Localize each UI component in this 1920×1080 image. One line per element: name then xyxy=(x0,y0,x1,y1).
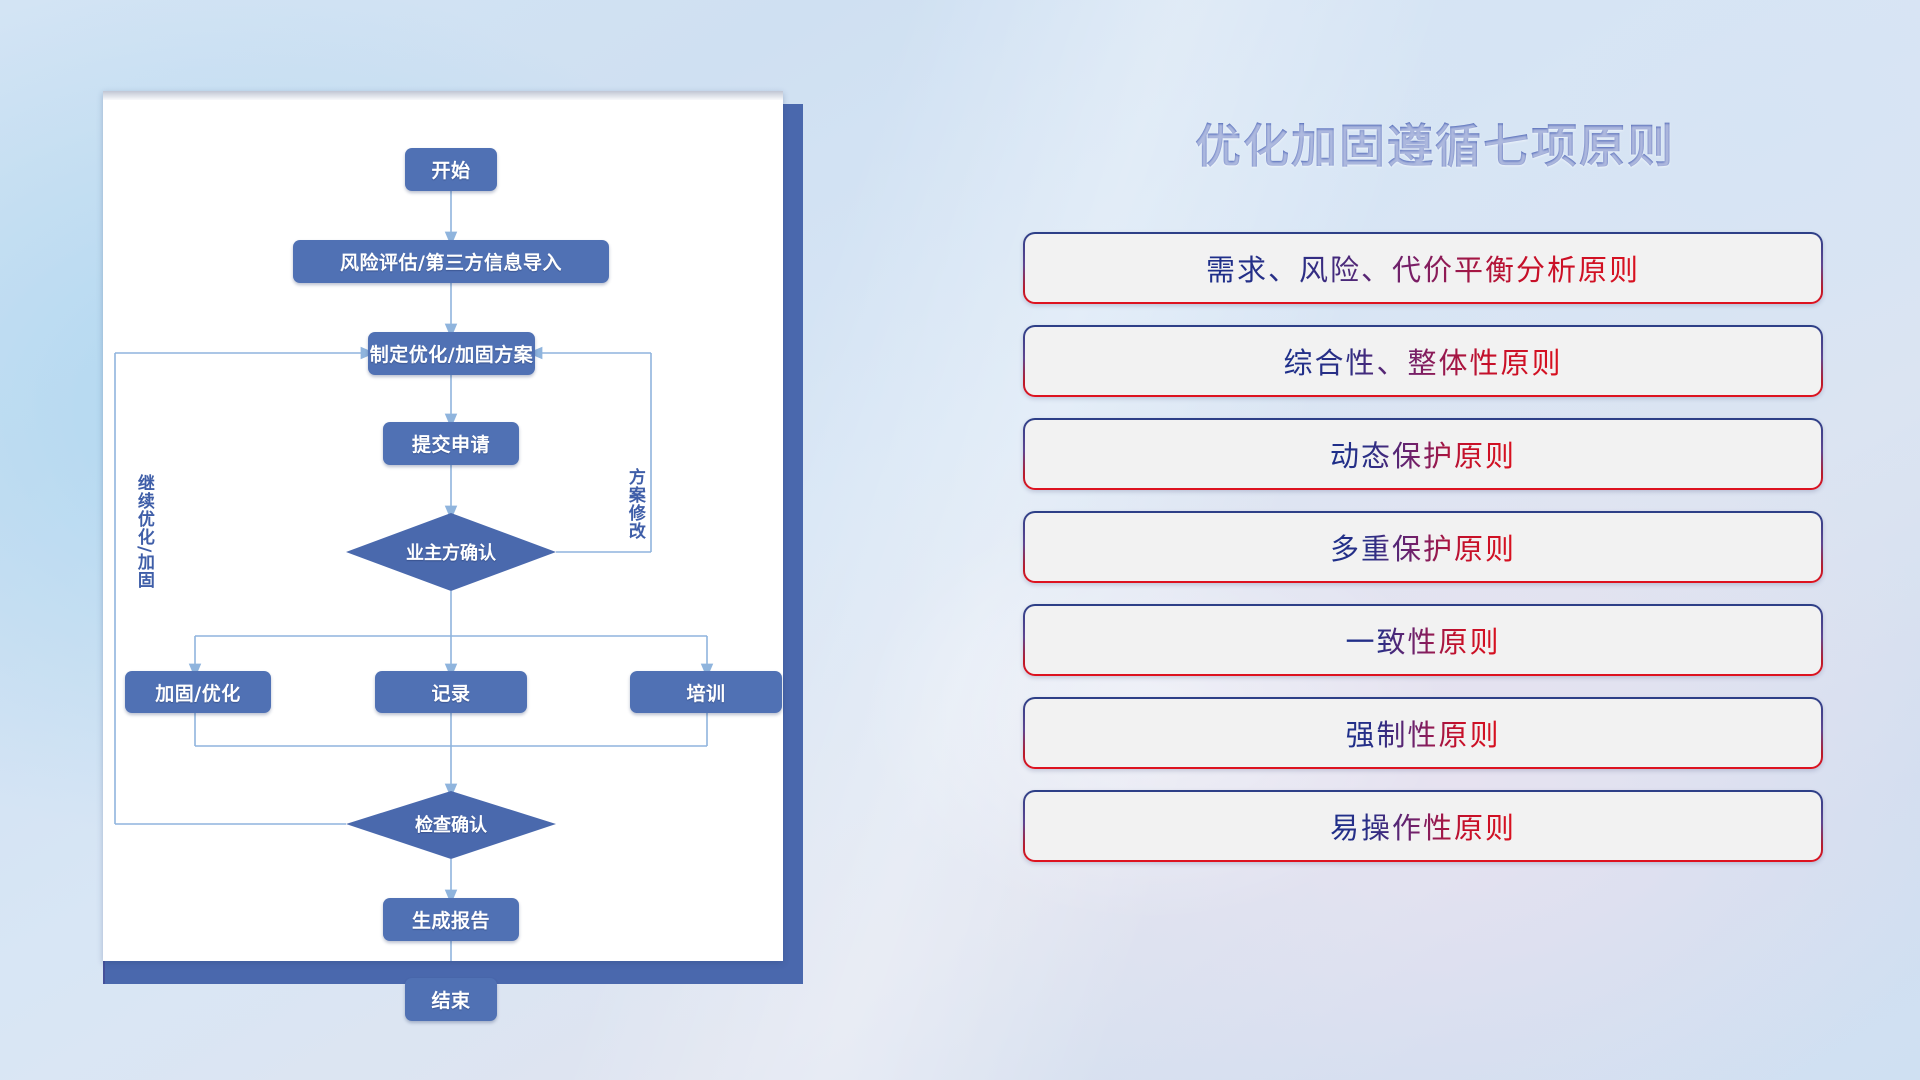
node-end-label: 结束 xyxy=(431,986,470,1013)
node-record[interactable]: 记录 xyxy=(375,671,527,713)
principle-card-inner: 需求、风险、代价平衡分析原则 xyxy=(1025,234,1821,302)
node-report-label: 生成报告 xyxy=(412,906,490,933)
principle-label: 多重保护原则 xyxy=(1330,526,1516,568)
principle-card-inner: 综合性、整体性原则 xyxy=(1025,327,1821,395)
principles-panel: 优化加固遵循七项原则 需求、风险、代价平衡分析原则 综合性、整体性原则 动态保护… xyxy=(1020,0,1850,1080)
principles-list: 需求、风险、代价平衡分析原则 综合性、整体性原则 动态保护原则 多重保护原则 一… xyxy=(1023,232,1823,883)
node-report[interactable]: 生成报告 xyxy=(383,898,519,941)
principle-card-inner: 强制性原则 xyxy=(1025,699,1821,767)
owner-confirm-diamond xyxy=(346,513,556,591)
node-risk-assessment[interactable]: 风险评估/第三方信息导入 xyxy=(293,240,609,283)
node-plan-label: 制定优化/加固方案 xyxy=(370,340,533,367)
node-reinforce[interactable]: 加固/优化 xyxy=(125,671,271,713)
principle-card[interactable]: 动态保护原则 xyxy=(1023,418,1823,490)
principle-label: 综合性、整体性原则 xyxy=(1283,340,1562,382)
node-start[interactable]: 开始 xyxy=(405,148,497,191)
principle-card[interactable]: 综合性、整体性原则 xyxy=(1023,325,1823,397)
principle-label: 强制性原则 xyxy=(1345,712,1500,754)
principle-card-inner: 多重保护原则 xyxy=(1025,513,1821,581)
principle-card[interactable]: 强制性原则 xyxy=(1023,697,1823,769)
principle-label: 易操作性原则 xyxy=(1330,805,1516,847)
principle-card[interactable]: 一致性原则 xyxy=(1023,604,1823,676)
flowchart-card: 开始 风险评估/第三方信息导入 制定优化/加固方案 提交申请 业主方确认 加固/… xyxy=(103,91,783,961)
flowchart-canvas: 开始 风险评估/第三方信息导入 制定优化/加固方案 提交申请 业主方确认 加固/… xyxy=(103,91,783,961)
node-risk-assessment-label: 风险评估/第三方信息导入 xyxy=(340,248,562,275)
principle-card-inner: 动态保护原则 xyxy=(1025,420,1821,488)
node-start-label: 开始 xyxy=(431,156,470,183)
node-submit[interactable]: 提交申请 xyxy=(383,422,519,465)
flowchart-connectors xyxy=(103,91,783,961)
principle-card-inner: 一致性原则 xyxy=(1025,606,1821,674)
node-plan[interactable]: 制定优化/加固方案 xyxy=(368,332,535,375)
principles-title: 优化加固遵循七项原则 xyxy=(1020,110,1850,176)
flowchart-panel: 开始 风险评估/第三方信息导入 制定优化/加固方案 提交申请 业主方确认 加固/… xyxy=(103,91,803,981)
check-confirm-diamond xyxy=(346,791,556,859)
edge-label-right-loop: 方案修改 xyxy=(625,468,643,540)
principle-card[interactable]: 易操作性原则 xyxy=(1023,790,1823,862)
node-submit-label: 提交申请 xyxy=(412,430,490,457)
node-training[interactable]: 培训 xyxy=(630,671,782,713)
node-record-label: 记录 xyxy=(431,679,470,706)
node-reinforce-label: 加固/优化 xyxy=(155,679,240,706)
principle-label: 一致性原则 xyxy=(1345,619,1500,661)
node-training-label: 培训 xyxy=(686,679,725,706)
principle-card-inner: 易操作性原则 xyxy=(1025,792,1821,860)
node-end[interactable]: 结束 xyxy=(405,978,497,1021)
principle-card[interactable]: 多重保护原则 xyxy=(1023,511,1823,583)
principle-label: 需求、风险、代价平衡分析原则 xyxy=(1206,247,1640,289)
principle-label: 动态保护原则 xyxy=(1330,433,1516,475)
edge-label-left-loop: 继续优化/加固 xyxy=(134,474,152,589)
principle-card[interactable]: 需求、风险、代价平衡分析原则 xyxy=(1023,232,1823,304)
